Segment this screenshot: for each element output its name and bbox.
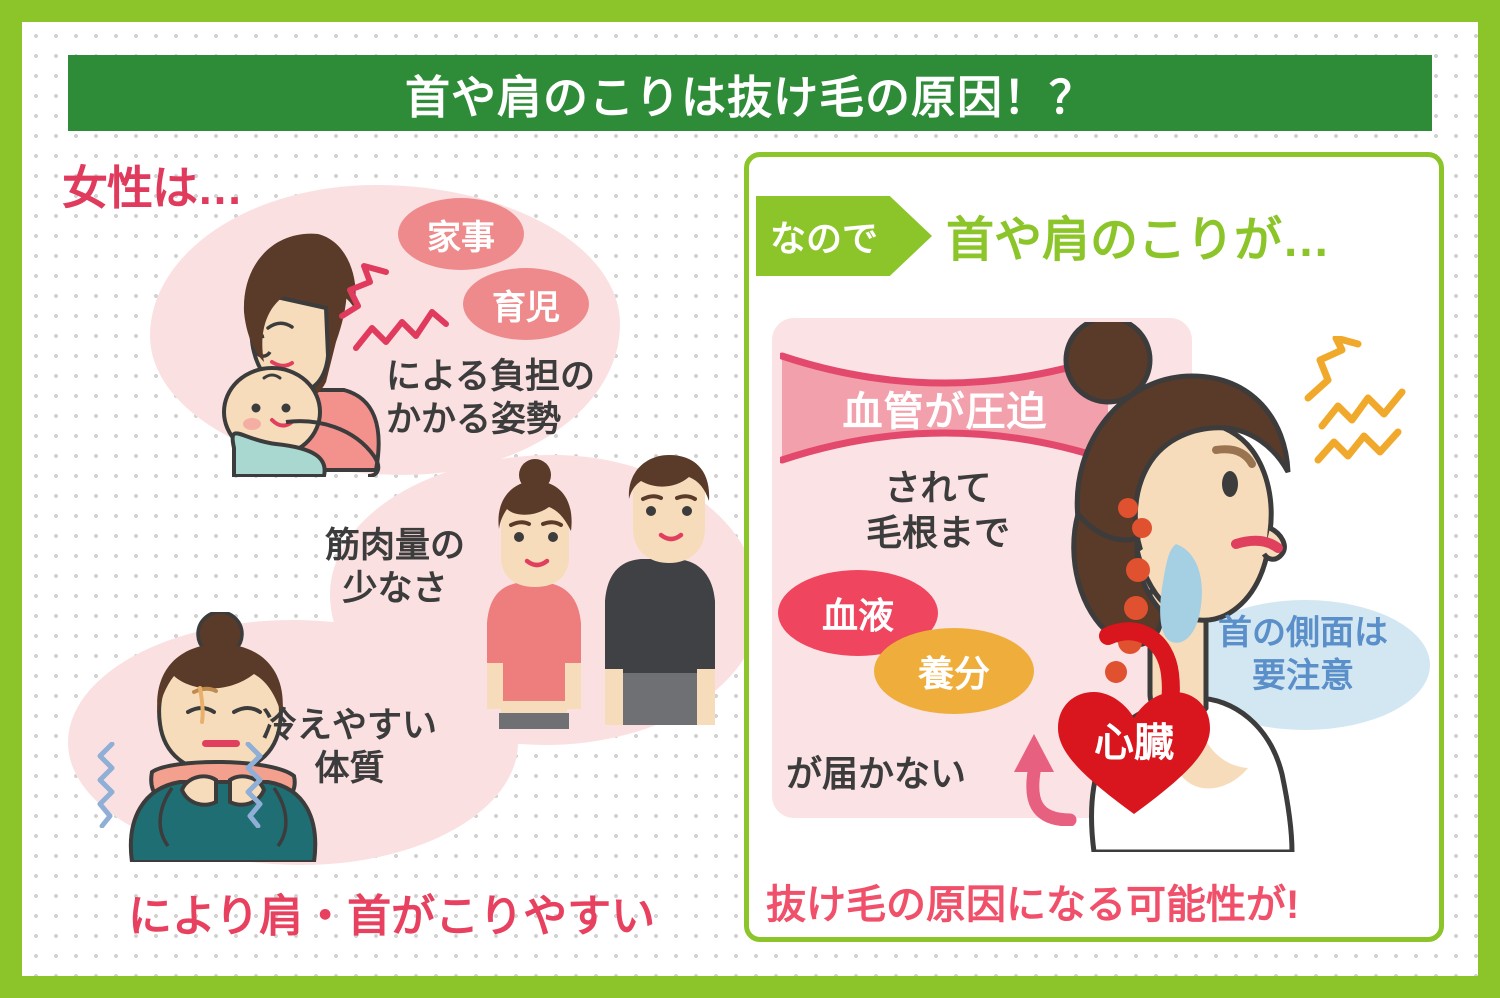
left-panel-conclusion: により肩・首がこりやすい <box>128 880 655 944</box>
badge-nutrient: 養分 <box>874 628 1034 714</box>
shiver-lines-icon <box>92 742 122 828</box>
nanode-tag-label: なので <box>770 210 878 262</box>
pill-childcare: 育児 <box>463 268 589 340</box>
pill-childcare-label: 育児 <box>492 280 560 329</box>
right-panel-conclusion: 抜け毛の原因になる可能性が! <box>766 872 1299 930</box>
reason-posture-text: による負担の かかる姿勢 <box>386 356 595 441</box>
reason-muscle-mass-text: 筋肉量の 少なさ <box>325 525 465 610</box>
neck-note-text: 首の側面は 要注意 <box>1218 612 1388 697</box>
badge-nutrient-label: 養分 <box>918 645 990 697</box>
right-body-bottom-text: が届かない <box>786 745 966 797</box>
pill-housework-label: 家事 <box>427 210 495 259</box>
left-panel-heading: 女性は… <box>62 152 242 218</box>
zigzag-pain-icon <box>336 262 456 357</box>
badge-blood-label: 血液 <box>822 587 894 639</box>
right-panel-heading: 首や肩のこりが… <box>946 200 1330 270</box>
blood-flow-arrow-icon <box>1012 728 1084 826</box>
pill-housework: 家事 <box>398 198 524 270</box>
heart-label: 心臓 <box>1094 721 1174 765</box>
woman-and-man-illustration <box>465 455 725 730</box>
zigzag-pain-icon <box>1302 336 1412 466</box>
reason-cold-constitution-text: 冷えやすい 体質 <box>262 705 437 790</box>
infographic-root: 首や肩のこりは抜け毛の原因！？ 女性は… 家事 育児 による負担の かかる姿勢 <box>0 0 1500 998</box>
page-title: 首や肩のこりは抜け毛の原因！？ <box>405 61 1095 126</box>
title-banner: 首や肩のこりは抜け毛の原因！？ <box>68 55 1432 131</box>
right-body-top-text: されて 毛根まで <box>866 465 1010 555</box>
